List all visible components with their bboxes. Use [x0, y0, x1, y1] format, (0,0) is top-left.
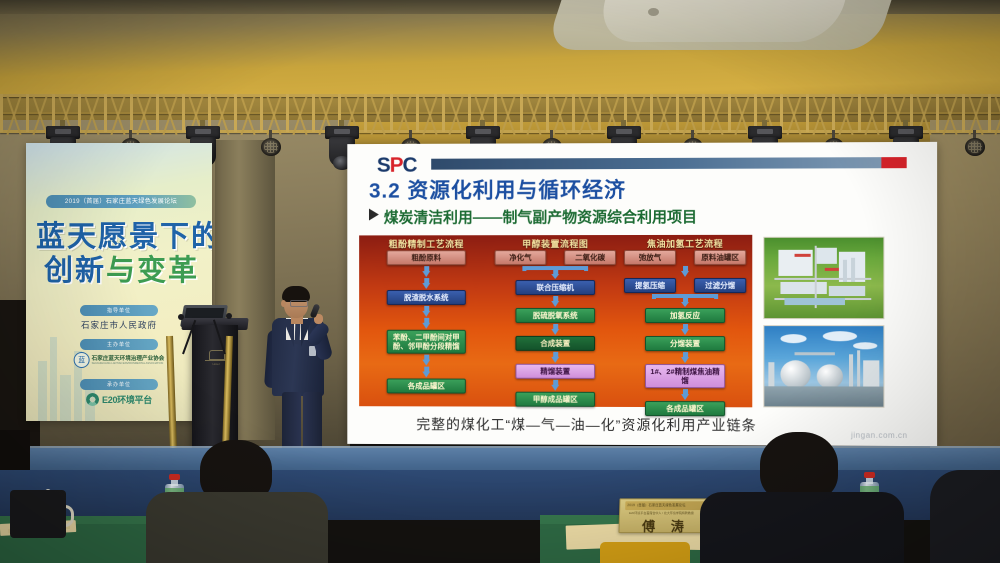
speaker-ear	[281, 300, 286, 307]
projection-screen: SPC 3.2 资源化利用与循环经济 煤炭清洁利用——制气副产物资源综合利用项目…	[347, 142, 937, 446]
banner-org-host-sub: SHIJIAZHUANG LANTIAN ENVIRONMENTAL ASSOC…	[92, 362, 165, 365]
spherical-tanks-photo	[763, 325, 884, 408]
flow-arrow-icon	[551, 296, 560, 307]
flow-node: 脱硫脱氧系统	[515, 308, 595, 323]
flow-arrow-icon	[422, 355, 431, 366]
flow-column-header: 焦油加氢工艺流程	[621, 237, 749, 250]
flow-node: 精馏装置	[515, 364, 595, 379]
flow-merge-arrow-icon	[642, 294, 728, 307]
nameplate-header: 2019（首届）石家庄蓝天绿色发展论坛	[627, 502, 685, 507]
podium-microphone-left-head	[178, 314, 184, 320]
event-banner: 2019（首届）石家庄蓝天绿色发展论坛 蓝天愿景下的 创新与变革 指导单位 石家…	[26, 143, 212, 421]
back-wall-right	[930, 120, 1000, 450]
banner-event-line: 2019（首届）石家庄蓝天绿色发展论坛	[46, 195, 196, 208]
audience-chair-back-left	[10, 490, 66, 538]
flow-node: 弛放气	[624, 250, 676, 265]
banner-org-host: 石家庄蓝天环境治理产业协会	[92, 356, 165, 362]
flow-node: 过滤分馏	[694, 278, 746, 293]
flow-node: 二氧化碳	[564, 250, 616, 265]
slide-title: 3.2 资源化利用与循环经济	[369, 174, 626, 205]
slide-header-accent	[881, 157, 906, 168]
audience-chair-yellow-right	[600, 542, 690, 563]
banner-organizer-logo: E20环境平台	[86, 393, 152, 406]
flow-node-pair: 净化气二氧化碳	[492, 250, 619, 265]
banner-pill-guidance: 指导单位	[80, 305, 158, 316]
flow-arrow-icon	[422, 318, 431, 329]
flow-node: 各成品罐区	[645, 401, 725, 416]
flow-arrow-icon	[422, 306, 431, 317]
lighting-truss	[0, 92, 1000, 138]
flow-node: 原料油罐区	[694, 250, 746, 265]
flow-node: 提氢压缩	[624, 278, 676, 293]
e20-swirl-icon	[86, 393, 99, 406]
banner-org-guidance: 石家庄市人民政府	[81, 319, 157, 331]
flow-arrow-icon	[422, 367, 431, 378]
audience-body-right	[700, 492, 904, 563]
podium-crest-label: Hotel	[207, 362, 225, 366]
banner-pill-host: 主办单位	[80, 339, 158, 350]
speaker-glasses-icon	[290, 300, 308, 307]
banner-headline-2b: 与变革	[106, 255, 199, 287]
bullet-triangle-icon	[369, 209, 379, 221]
spc-logo-p: P	[390, 154, 403, 177]
flow-node: 1#、2#精制煤焦油精馏	[645, 364, 725, 388]
flow-arrow-icon	[551, 380, 560, 391]
flow-merge-arrow-icon	[512, 266, 598, 279]
slide-bullet-text: 煤炭清洁利用——制气副产物资源综合利用项目	[384, 209, 697, 227]
flow-node: 甲醇成品罐区	[515, 392, 595, 407]
audience-body-far-right	[930, 470, 1000, 563]
nameplate-name: 傅 涛	[619, 516, 712, 535]
slide-watermark: jingan.com.cn	[851, 431, 908, 440]
flow-node: 联合压缩机	[515, 280, 595, 295]
speaker-leg-right	[303, 392, 322, 454]
process-flow-panel: 粗酚精制工艺流程粗酚原料脱渣脱水系统苯酚、二甲酚间对甲酚、邻甲酚分段精馏各成品罐…	[359, 235, 752, 407]
flow-node: 净化气	[495, 250, 547, 265]
flow-node: 加氢反应	[645, 308, 725, 323]
flow-node: 分馏装置	[645, 336, 725, 351]
flow-arrow-icon	[422, 278, 431, 289]
nameplate-subtitle: E20环境平台首席合伙人 / 北大环境学院特聘教授	[629, 511, 694, 515]
flow-arrow-icon	[551, 352, 560, 363]
association-seal-icon: 蓝	[74, 352, 90, 368]
ceiling-panel-inner	[595, 0, 845, 42]
bottle-cap-icon	[169, 474, 180, 480]
flow-column-header: 甲醇装置流程图	[492, 237, 619, 250]
flow-arrow-icon	[681, 389, 690, 400]
bottle-cap-icon-right	[864, 472, 875, 478]
flow-node-pair: 弛放气原料油罐区	[621, 250, 749, 265]
banner-pill-organizer: 承办单位	[80, 379, 158, 390]
aerial-plant-photo	[763, 237, 884, 320]
flow-node: 合成装置	[515, 336, 595, 351]
flow-node: 各成品罐区	[387, 378, 466, 393]
banner-headline-2: 创新与变革	[44, 247, 199, 289]
banner-host-logo: 蓝 石家庄蓝天环境治理产业协会 SHIJIAZHUANG LANTIAN ENV…	[74, 352, 165, 368]
flow-node: 苯酚、二甲酚间对甲酚、邻甲酚分段精馏	[387, 330, 466, 354]
flow-arrow-icon	[681, 352, 690, 363]
spc-logo-s: S	[377, 154, 390, 177]
banner-org-organizer: E20环境平台	[102, 393, 152, 406]
speaker-leg-left	[282, 392, 301, 454]
audience-body-left	[146, 492, 328, 563]
spc-logo-c: C	[403, 154, 417, 177]
flow-column-tar-hydro: 焦油加氢工艺流程弛放气原料油罐区提氢压缩过滤分馏加氢反应分馏装置1#、2#精制煤…	[621, 237, 749, 416]
flow-column-crude-phenol: 粗酚精制工艺流程粗酚原料脱渣脱水系统苯酚、二甲酚间对甲酚、邻甲酚分段精馏各成品罐…	[363, 237, 490, 393]
flow-arrow-icon	[551, 324, 560, 335]
ceiling-speaker-dot	[648, 8, 659, 16]
slide-header-bar	[431, 157, 881, 169]
flow-node: 粗酚原料	[387, 250, 466, 265]
slide-footer-text: 完整的煤化工“煤—气—油—化”资源化利用产业链条	[416, 414, 756, 435]
flow-node: 脱渣脱水系统	[387, 290, 466, 305]
banner-headline-2a: 创新	[44, 255, 106, 287]
speaker-tie	[295, 322, 301, 344]
flow-arrow-icon	[681, 324, 690, 335]
podium-microphone-right-head	[226, 313, 232, 319]
flow-arrow-icon	[422, 266, 431, 277]
screenshot-root: 2019（首届）石家庄蓝天绿色发展论坛 蓝天愿景下的 创新与变革 指导单位 石家…	[0, 0, 1000, 563]
flow-column-header: 粗酚精制工艺流程	[363, 237, 490, 250]
flow-node-pair-second: 提氢压缩过滤分馏	[621, 278, 749, 293]
flow-column-methanol: 甲醇装置流程图净化气二氧化碳联合压缩机脱硫脱氧系统合成装置精馏装置甲醇成品罐区	[492, 237, 619, 407]
slide-bullet: 煤炭清洁利用——制气副产物资源综合利用项目	[369, 206, 697, 228]
truss-chord-mid	[0, 112, 1000, 114]
